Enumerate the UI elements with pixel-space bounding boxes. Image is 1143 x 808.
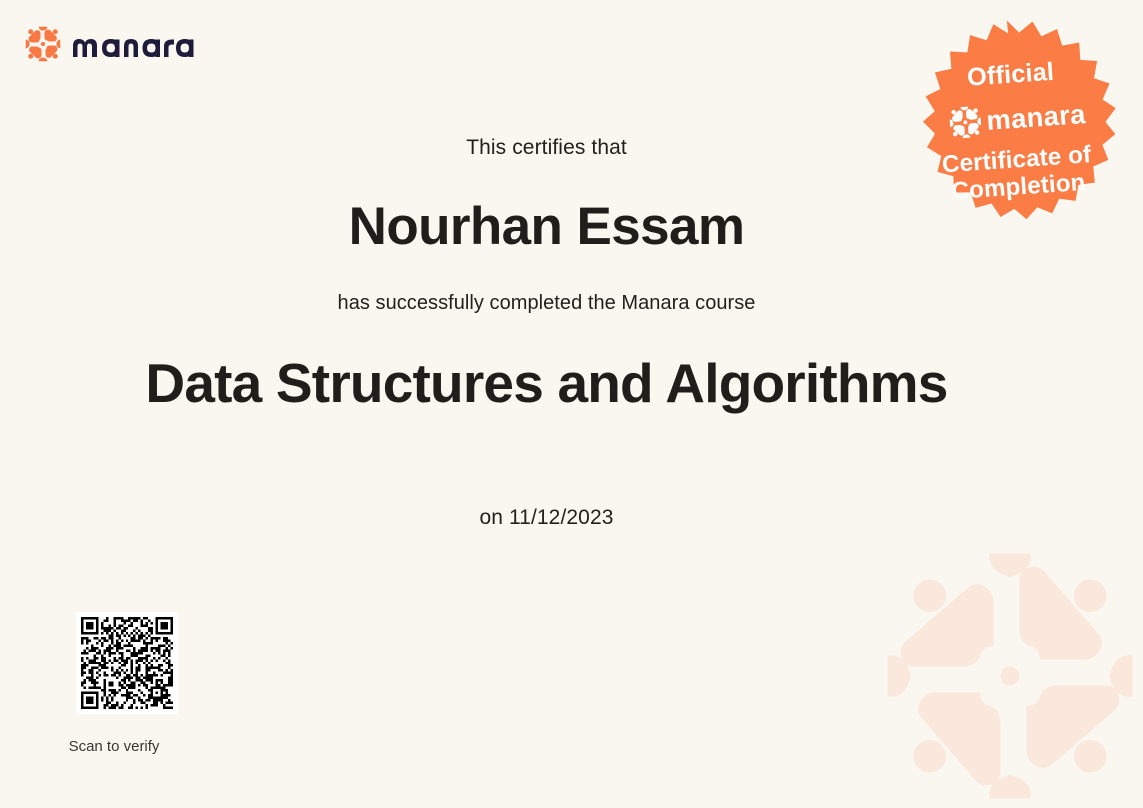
verification-block: Scan to verify xyxy=(76,612,178,755)
completion-date: on 11/12/2023 xyxy=(0,506,1093,530)
completion-line: has successfully completed the Manara co… xyxy=(0,292,1093,315)
verify-caption: Scan to verify xyxy=(63,738,165,755)
manara-logo-icon xyxy=(25,26,61,62)
certificate-canvas: Official xyxy=(0,0,1143,808)
watermark-decoration xyxy=(871,540,1143,808)
manara-wordmark xyxy=(71,30,201,58)
official-seal-badge: Official xyxy=(903,14,1125,232)
qr-code-icon[interactable] xyxy=(76,612,178,714)
manara-pattern-watermark-icon xyxy=(871,540,1143,808)
starburst-seal-icon: Official xyxy=(903,14,1125,232)
brand-header xyxy=(25,26,201,62)
course-title: Data Structures and Algorithms xyxy=(0,352,1093,414)
